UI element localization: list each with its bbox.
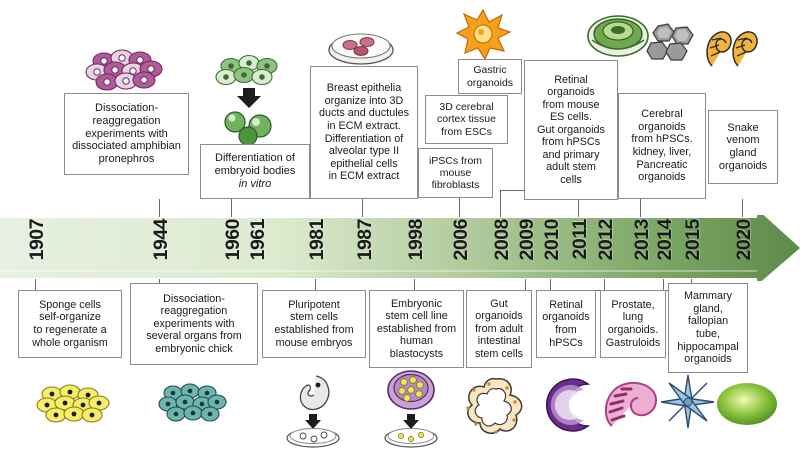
event-line: organoids <box>540 311 592 324</box>
event-line: embryoid bodies <box>204 165 306 178</box>
purple-optic-cup-icon <box>538 374 598 436</box>
event-box-mouse-escs[interactable]: Pluripotent stem cells established from … <box>262 290 366 358</box>
year-label: 2008 <box>493 219 513 260</box>
year-label: 1907 <box>28 219 48 260</box>
event-line: experiments with <box>134 318 254 331</box>
year-label: 1981 <box>308 219 328 260</box>
event-box-retinal-hpscs[interactable]: Retinal organoids from hPSCs <box>536 290 596 358</box>
event-line: from adult <box>470 323 528 336</box>
event-line: organoids <box>528 86 614 99</box>
event-line: reaggregation <box>68 115 185 128</box>
event-line: to regenerate a <box>22 324 118 337</box>
event-line: established from <box>373 323 460 336</box>
event-line-italic: in vitro <box>204 178 306 191</box>
event-line: organoids <box>622 171 702 184</box>
event-line: from hPSCs. <box>622 133 702 146</box>
event-line: mouse embryos <box>266 337 362 350</box>
event-line: Gut organoids <box>528 124 614 137</box>
event-line: several organs from <box>134 330 254 343</box>
event-line: self-organize <box>22 311 118 324</box>
blue-star-organoid-icon <box>660 374 716 430</box>
year-label: 1960 <box>224 219 244 260</box>
event-line: kidney, liver, <box>622 146 702 159</box>
connector-2008-top <box>500 190 501 217</box>
event-line: Dissociation- <box>68 102 185 115</box>
connector-2006-top <box>459 197 460 217</box>
intestinal-crypt-organoid-icon <box>462 375 530 437</box>
event-box-human-escs[interactable]: Embryonic stem cell line established fro… <box>369 290 464 368</box>
mouse-embryo-dish-icon <box>282 372 344 450</box>
event-line: tube, <box>672 328 744 341</box>
grey-brain-organoid-icon <box>641 22 699 66</box>
year-label: 1961 <box>249 219 269 260</box>
year-label: 2010 <box>543 219 563 260</box>
event-line: organoids <box>622 121 702 134</box>
green-cell-sheet-budding-icon <box>213 52 285 144</box>
event-line: from ESCs <box>429 126 504 138</box>
event-line: Cerebral <box>622 108 702 121</box>
event-line: gland, <box>672 303 744 316</box>
event-line: ES cells. <box>528 111 614 124</box>
year-label: 1944 <box>152 219 172 260</box>
year-label: 2011 <box>571 219 591 259</box>
blastocyst-dish-icon <box>380 368 442 450</box>
event-line: whole organism <box>22 337 118 350</box>
event-line: Gastric <box>462 64 518 76</box>
year-label: 1998 <box>407 219 427 260</box>
year-label: 2013 <box>633 219 653 260</box>
event-line: alveolar type II <box>314 145 414 158</box>
event-line: iPSCs from <box>422 155 489 167</box>
event-line: gland <box>712 147 774 160</box>
event-line: experiments with <box>68 128 185 141</box>
event-box-embryoid-bodies[interactable]: Differentiation of embryoid bodies in vi… <box>200 144 310 199</box>
timeline-figure: Dissociation- reaggregation experiments … <box>0 0 800 452</box>
event-line: mouse <box>422 167 489 179</box>
year-label: 2020 <box>735 219 755 260</box>
orange-starburst-organoid-icon <box>455 8 511 60</box>
year-label: 2012 <box>597 219 617 260</box>
timeline-arrow-band: 1907 1944 1960 1961 1981 1987 1998 2006 … <box>0 215 800 281</box>
connector-2009-elbow-h <box>500 190 526 191</box>
event-line: Gastruloids <box>604 337 662 350</box>
event-line: lung <box>604 311 662 324</box>
event-line: fallopian <box>672 315 744 328</box>
year-label: 2014 <box>656 219 676 260</box>
event-box-amphibian-pronephros[interactable]: Dissociation- reaggregation experiments … <box>64 93 189 175</box>
event-line: Sponge cells <box>22 299 118 312</box>
event-box-breast-epithelia-ecm[interactable]: Breast epithelia organize into 3D ducts … <box>310 66 418 199</box>
event-line: adult stem <box>528 161 614 174</box>
event-line: organoids. <box>604 324 662 337</box>
event-line: dissociated amphibian <box>68 140 185 153</box>
event-line: in ECM extract <box>314 170 414 183</box>
event-box-sponge-cells[interactable]: Sponge cells self-organize to regenerate… <box>18 290 122 358</box>
event-box-embryonic-chick[interactable]: Dissociation- reaggregation experiments … <box>130 283 258 365</box>
event-line: 3D cerebral <box>429 101 504 113</box>
event-line: cells <box>528 174 614 187</box>
green-sphere-organoid-icon <box>714 380 780 428</box>
event-line: Pluripotent <box>266 299 362 312</box>
event-line: hPSCs <box>540 337 592 350</box>
event-line: established from <box>266 324 362 337</box>
event-line: organize into 3D <box>314 95 414 108</box>
green-optic-cup-icon <box>586 12 650 58</box>
event-line: Snake <box>712 122 774 135</box>
event-line: stem cells <box>470 348 528 361</box>
pink-cell-cluster-icon <box>82 47 174 93</box>
event-line: organoids <box>712 160 774 173</box>
event-line: venom <box>712 134 774 147</box>
event-line: Prostate, <box>604 299 662 312</box>
event-line: cortex tissue <box>429 113 504 125</box>
event-line: Retinal <box>528 74 614 87</box>
event-line: from <box>540 324 592 337</box>
year-label: 1987 <box>356 219 376 260</box>
event-line: from hPSCs <box>528 136 614 149</box>
event-line: hippocampal <box>672 341 744 354</box>
event-box-gut-organoids-adult[interactable]: Gut organoids from adult intestinal stem… <box>466 290 532 368</box>
year-label: 2009 <box>518 219 538 260</box>
event-line: stem cell line <box>373 310 460 323</box>
event-box-ipscs-mouse-fibroblasts[interactable]: iPSCs from mouse fibroblasts <box>418 148 493 198</box>
event-line: Pancreatic <box>622 159 702 172</box>
event-box-mammary-fallopian-hippocampal[interactable]: Mammary gland, fallopian tube, hippocamp… <box>668 283 748 373</box>
event-line: intestinal <box>470 335 528 348</box>
event-line: Retinal <box>540 299 592 312</box>
event-line: Dissociation- <box>134 293 254 306</box>
event-line: Differentiation of <box>204 152 306 165</box>
event-box-retinal-gut-organoids[interactable]: Retinal organoids from mouse ES cells. G… <box>524 60 618 200</box>
event-line: fibroblasts <box>422 179 489 191</box>
event-line: Breast epithelia <box>314 82 414 95</box>
snake-coil-icon <box>702 18 764 70</box>
event-line: and primary <box>528 149 614 162</box>
event-line: in ECM extract. <box>314 120 414 133</box>
event-line: reaggregation <box>134 305 254 318</box>
petri-dish-pink-colonies-icon <box>326 28 396 68</box>
year-label: 2015 <box>684 219 704 260</box>
event-line: Mammary <box>672 290 744 303</box>
event-line: Differentiation of <box>314 133 414 146</box>
event-box-gastric-organoids[interactable]: Gastric organoids <box>458 59 522 94</box>
event-line: epithelial cells <box>314 158 414 171</box>
event-line: Gut <box>470 298 528 311</box>
event-box-cerebral-cortex-escs[interactable]: 3D cerebral cortex tissue from ESCs <box>425 95 508 144</box>
timeline-arrow-shape <box>0 215 800 281</box>
event-box-snake-venom-gland[interactable]: Snake venom gland organoids <box>708 110 778 184</box>
event-line: organoids <box>672 353 744 366</box>
event-line: stem cells <box>266 311 362 324</box>
yellow-cell-cluster-icon <box>36 383 114 425</box>
event-line: embryonic chick <box>134 343 254 356</box>
event-box-cerebral-kidney-liver-pancreatic[interactable]: Cerebral organoids from hPSCs. kidney, l… <box>618 93 706 199</box>
event-line: organoids <box>462 77 518 89</box>
event-line: pronephros <box>68 153 185 166</box>
event-line: ducts and ductules <box>314 107 414 120</box>
event-line: from mouse <box>528 99 614 112</box>
event-line: organoids <box>470 310 528 323</box>
year-label: 2006 <box>452 219 472 260</box>
event-line: blastocysts <box>373 348 460 361</box>
event-box-prostate-lung-gastruloids[interactable]: Prostate, lung organoids. Gastruloids <box>600 290 666 358</box>
pink-lung-organoid-icon <box>598 374 662 434</box>
event-line: Embryonic <box>373 298 460 311</box>
event-line: human <box>373 335 460 348</box>
teal-cell-cluster-icon <box>158 382 228 426</box>
